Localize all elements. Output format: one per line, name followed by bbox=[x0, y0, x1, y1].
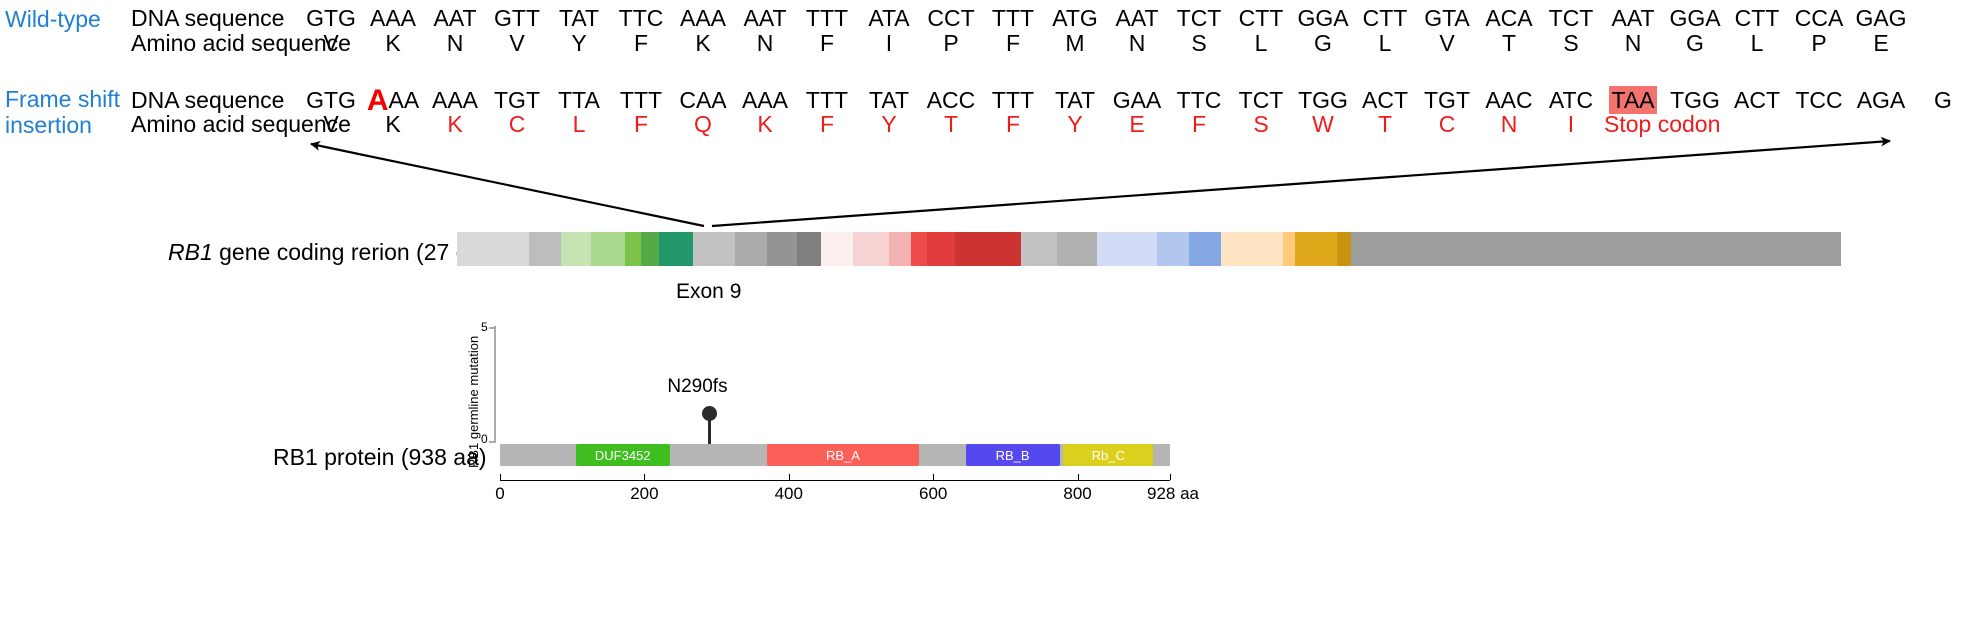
fs-codon-16: TGG bbox=[1292, 87, 1354, 114]
mutation-lollipop-head[interactable] bbox=[702, 406, 717, 421]
y-tick-top: 5 bbox=[481, 320, 488, 334]
wt-amino-acid-14: S bbox=[1168, 30, 1230, 57]
exon-segment-8[interactable] bbox=[659, 232, 693, 266]
exon-segment-15[interactable] bbox=[889, 232, 911, 266]
wt-amino-acid-23: L bbox=[1726, 30, 1788, 57]
fs-amino-acid-17: T bbox=[1354, 111, 1416, 138]
wt-codon-4: TAT bbox=[548, 5, 610, 32]
wt-codon-25: GAG bbox=[1850, 5, 1912, 32]
wt-amino-acid-24: P bbox=[1788, 30, 1850, 57]
protein-domain-label: Rb_C bbox=[1092, 448, 1125, 463]
fs-codon-3: TGT bbox=[486, 87, 548, 114]
fs-codon-9: TAT bbox=[858, 87, 920, 114]
wt-amino-acid-21: N bbox=[1602, 30, 1664, 57]
frame-shift-group-label-line2: insertion bbox=[5, 112, 92, 139]
wt-amino-acid-19: T bbox=[1478, 30, 1540, 57]
exon-segment-5[interactable] bbox=[591, 232, 625, 266]
exon-segment-12[interactable] bbox=[797, 232, 821, 266]
protein-domain-rb_a[interactable]: RB_A bbox=[767, 444, 919, 466]
fs-codon-14: TTC bbox=[1168, 87, 1230, 114]
wt-amino-acid-8: F bbox=[796, 30, 858, 57]
fs-codon-4: TTA bbox=[548, 87, 610, 114]
x-tick-label-0: 0 bbox=[470, 484, 530, 504]
y-axis-label-text: RB1 germline mutation bbox=[466, 336, 481, 468]
wt-codon-6: AAA bbox=[672, 5, 734, 32]
gene-name-italic: RB1 bbox=[168, 239, 213, 265]
protein-domain-label: RB_A bbox=[826, 448, 860, 463]
exon-segment-22[interactable] bbox=[1157, 232, 1189, 266]
wt-codon-0: GTG bbox=[300, 5, 362, 32]
fs-codon-7: AAA bbox=[734, 87, 796, 114]
fs-codon-8: TTT bbox=[796, 87, 858, 114]
fs-codon-24: TCC bbox=[1788, 87, 1850, 114]
protein-domain-label: DUF3452 bbox=[595, 448, 651, 463]
wild-type-dna-sequence: GTGAAAAATGTTTATTTCAAAAATTTTATACCTTTTATGA… bbox=[300, 5, 1912, 32]
fs-amino-acid-8: F bbox=[796, 111, 858, 138]
wt-codon-5: TTC bbox=[610, 5, 672, 32]
exon-segment-18[interactable] bbox=[955, 232, 1021, 266]
fs-amino-acid-14: F bbox=[1168, 111, 1230, 138]
wt-amino-acid-22: G bbox=[1664, 30, 1726, 57]
mutation-lollipop-stem bbox=[708, 418, 711, 444]
exon-segment-13[interactable] bbox=[821, 232, 853, 266]
wt-codon-8: TTT bbox=[796, 5, 858, 32]
fs-codon-23: ACT bbox=[1726, 87, 1788, 114]
wt-codon-19: ACA bbox=[1478, 5, 1540, 32]
protein-x-axis: 0200400600800928 aa bbox=[500, 480, 1200, 520]
x-tick-mark-3 bbox=[933, 474, 934, 480]
exon-segment-16[interactable] bbox=[911, 232, 927, 266]
fs-codon-0: GTG bbox=[300, 87, 362, 114]
wt-codon-1: AAA bbox=[362, 5, 424, 32]
exon-segment-19[interactable] bbox=[1021, 232, 1057, 266]
exon-segment-17[interactable] bbox=[927, 232, 955, 266]
wt-amino-acid-25: E bbox=[1850, 30, 1912, 57]
wt-codon-18: GTA bbox=[1416, 5, 1478, 32]
fs-codon-15: TCT bbox=[1230, 87, 1292, 114]
exon-segment-21[interactable] bbox=[1097, 232, 1157, 266]
fs-amino-acid-0: V bbox=[300, 111, 362, 138]
wt-amino-acid-17: L bbox=[1354, 30, 1416, 57]
fs-amino-acid-16: W bbox=[1292, 111, 1354, 138]
wt-amino-acid-7: N bbox=[734, 30, 796, 57]
frame-shift-dna-row-label: DNA sequence bbox=[131, 87, 284, 113]
fs-amino-acid-18: C bbox=[1416, 111, 1478, 138]
protein-domain-rb_b[interactable]: RB_B bbox=[966, 444, 1060, 466]
exon-segment-4[interactable] bbox=[561, 232, 591, 266]
y-tick-mark-top bbox=[489, 327, 494, 329]
wt-amino-acid-15: L bbox=[1230, 30, 1292, 57]
fs-amino-acid-9: Y bbox=[858, 111, 920, 138]
fs-codon-26: G bbox=[1912, 87, 1974, 114]
wt-codon-7: AAT bbox=[734, 5, 796, 32]
wt-amino-acid-0: V bbox=[300, 30, 362, 57]
x-tick-mark-0 bbox=[500, 474, 501, 480]
fs-codon-19: AAC bbox=[1478, 87, 1540, 114]
wt-amino-acid-5: F bbox=[610, 30, 672, 57]
y-tick-bottom: 0 bbox=[481, 432, 488, 446]
wt-codon-15: CTT bbox=[1230, 5, 1292, 32]
wt-codon-24: CCA bbox=[1788, 5, 1850, 32]
wt-codon-3: GTT bbox=[486, 5, 548, 32]
protein-domain-rb_c[interactable]: Rb_C bbox=[1063, 444, 1153, 466]
wt-codon-16: GGA bbox=[1292, 5, 1354, 32]
wt-amino-acid-13: N bbox=[1106, 30, 1168, 57]
wt-amino-acid-11: F bbox=[982, 30, 1044, 57]
wt-amino-acid-6: K bbox=[672, 30, 734, 57]
wt-amino-acid-1: K bbox=[362, 30, 424, 57]
fs-codon-5: TTT bbox=[610, 87, 672, 114]
fs-codon-21: TAA bbox=[1602, 87, 1664, 114]
fs-amino-acid-13: E bbox=[1106, 111, 1168, 138]
fs-codon-20: ATC bbox=[1540, 87, 1602, 114]
protein-domain-duf3452[interactable]: DUF3452 bbox=[576, 444, 670, 466]
wt-codon-17: CTT bbox=[1354, 5, 1416, 32]
exon-segment-3[interactable] bbox=[529, 232, 561, 266]
x-tick-label-1: 200 bbox=[614, 484, 674, 504]
fs-amino-acid-6: Q bbox=[672, 111, 734, 138]
wt-codon-14: TCT bbox=[1168, 5, 1230, 32]
frame-shift-amino-acid-sequence: VKKCLFQKFYTFYEFSWTCNIStop codon bbox=[300, 111, 1728, 138]
exon-segment-14[interactable] bbox=[853, 232, 889, 266]
stop-codon-label: Stop codon bbox=[1602, 111, 1728, 138]
frame-shift-dna-sequence: GTGAAAAAATGTTTATTTCAAAAATTTTATACCTTTTATG… bbox=[300, 87, 1974, 114]
wt-codon-11: TTT bbox=[982, 5, 1044, 32]
wt-codon-22: GGA bbox=[1664, 5, 1726, 32]
wt-amino-acid-9: I bbox=[858, 30, 920, 57]
fs-amino-acid-20: I bbox=[1540, 111, 1602, 138]
x-axis-line bbox=[500, 480, 1170, 481]
exon-segment-20[interactable] bbox=[1057, 232, 1097, 266]
wt-amino-acid-16: G bbox=[1292, 30, 1354, 57]
wt-amino-acid-10: P bbox=[920, 30, 982, 57]
wt-codon-13: AAT bbox=[1106, 5, 1168, 32]
fs-codon-12: TAT bbox=[1044, 87, 1106, 114]
x-tick-mark-4 bbox=[1078, 474, 1079, 480]
x-tick-mark-1 bbox=[644, 474, 645, 480]
fs-amino-acid-2: K bbox=[424, 111, 486, 138]
x-axis-end-label: 928 aa bbox=[1128, 484, 1218, 504]
wt-codon-10: CCT bbox=[920, 5, 982, 32]
x-tick-label-3: 600 bbox=[903, 484, 963, 504]
fs-amino-acid-3: C bbox=[486, 111, 548, 138]
fs-codon-1-rest: AA bbox=[388, 87, 419, 113]
fs-codon-22: TGG bbox=[1664, 87, 1726, 114]
exon-segment-25[interactable] bbox=[1283, 232, 1295, 266]
y-axis-line bbox=[494, 326, 496, 443]
fs-codon-17: ACT bbox=[1354, 87, 1416, 114]
fs-amino-acid-10: T bbox=[920, 111, 982, 138]
stop-codon-highlight: TAA bbox=[1609, 86, 1656, 114]
exon-segment-7[interactable] bbox=[641, 232, 659, 266]
fs-amino-acid-19: N bbox=[1478, 111, 1540, 138]
fs-amino-acid-1: K bbox=[362, 111, 424, 138]
wt-codon-12: ATG bbox=[1044, 5, 1106, 32]
exon-segment-23[interactable] bbox=[1189, 232, 1221, 266]
wt-codon-2: AAT bbox=[424, 5, 486, 32]
fs-codon-10: ACC bbox=[920, 87, 982, 114]
fs-amino-acid-4: L bbox=[548, 111, 610, 138]
x-tick-label-2: 400 bbox=[759, 484, 819, 504]
wt-codon-21: AAT bbox=[1602, 5, 1664, 32]
fs-amino-acid-7: K bbox=[734, 111, 796, 138]
wt-amino-acid-2: N bbox=[424, 30, 486, 57]
exon-segment-24[interactable] bbox=[1221, 232, 1283, 266]
x-tick-mark-2 bbox=[789, 474, 790, 480]
y-tick-mark-bottom bbox=[489, 441, 494, 443]
exon-segment-26[interactable] bbox=[1295, 232, 1337, 266]
exon-segment-27[interactable] bbox=[1337, 232, 1351, 266]
fs-amino-acid-5: F bbox=[610, 111, 672, 138]
frame-shift-group-label-line1: Frame shift bbox=[5, 86, 120, 113]
fs-amino-acid-12: Y bbox=[1044, 111, 1106, 138]
exon-segment-11[interactable] bbox=[767, 232, 797, 266]
fs-codon-6: CAA bbox=[672, 87, 734, 114]
exon-segment-1[interactable] bbox=[457, 232, 513, 266]
exon-segment-10[interactable] bbox=[735, 232, 767, 266]
protein-plot-label: RB1 protein (938 aa) bbox=[273, 444, 487, 471]
fs-codon-2: AAA bbox=[424, 87, 486, 114]
exon-segment-6[interactable] bbox=[625, 232, 641, 266]
x-tick-mark-end bbox=[1170, 474, 1171, 480]
wt-amino-acid-3: V bbox=[486, 30, 548, 57]
wt-codon-23: CTT bbox=[1726, 5, 1788, 32]
mutation-label: N290fs bbox=[667, 376, 727, 398]
fs-codon-13: GAA bbox=[1106, 87, 1168, 114]
fs-codon-25: AGA bbox=[1850, 87, 1912, 114]
exon-segment-9[interactable] bbox=[693, 232, 735, 266]
wt-amino-acid-20: S bbox=[1540, 30, 1602, 57]
wt-codon-9: ATA bbox=[858, 5, 920, 32]
wt-amino-acid-12: M bbox=[1044, 30, 1106, 57]
wild-type-amino-acid-sequence: VKNVYFKNFIPFMNSLGLVTSNGLPE bbox=[300, 30, 1912, 57]
exon-segment-2[interactable] bbox=[513, 232, 529, 266]
protein-domain-label: RB_B bbox=[996, 448, 1030, 463]
wt-amino-acid-4: Y bbox=[548, 30, 610, 57]
fs-codon-11: TTT bbox=[982, 87, 1044, 114]
fs-amino-acid-15: S bbox=[1230, 111, 1292, 138]
protein-plot-area: DUF3452RB_ARB_BRb_C N290fs bbox=[500, 300, 1180, 480]
x-tick-label-4: 800 bbox=[1048, 484, 1108, 504]
wild-type-dna-row-label: DNA sequence bbox=[131, 5, 284, 31]
wild-type-group-label: Wild-type bbox=[5, 6, 101, 33]
fs-codon-18: TGT bbox=[1416, 87, 1478, 114]
gene-exon-bar[interactable] bbox=[457, 232, 1841, 266]
fs-codon-1: AAA bbox=[362, 87, 424, 114]
exon-segment-28[interactable] bbox=[1351, 232, 1841, 266]
wt-codon-20: TCT bbox=[1540, 5, 1602, 32]
wt-amino-acid-18: V bbox=[1416, 30, 1478, 57]
fs-amino-acid-11: F bbox=[982, 111, 1044, 138]
